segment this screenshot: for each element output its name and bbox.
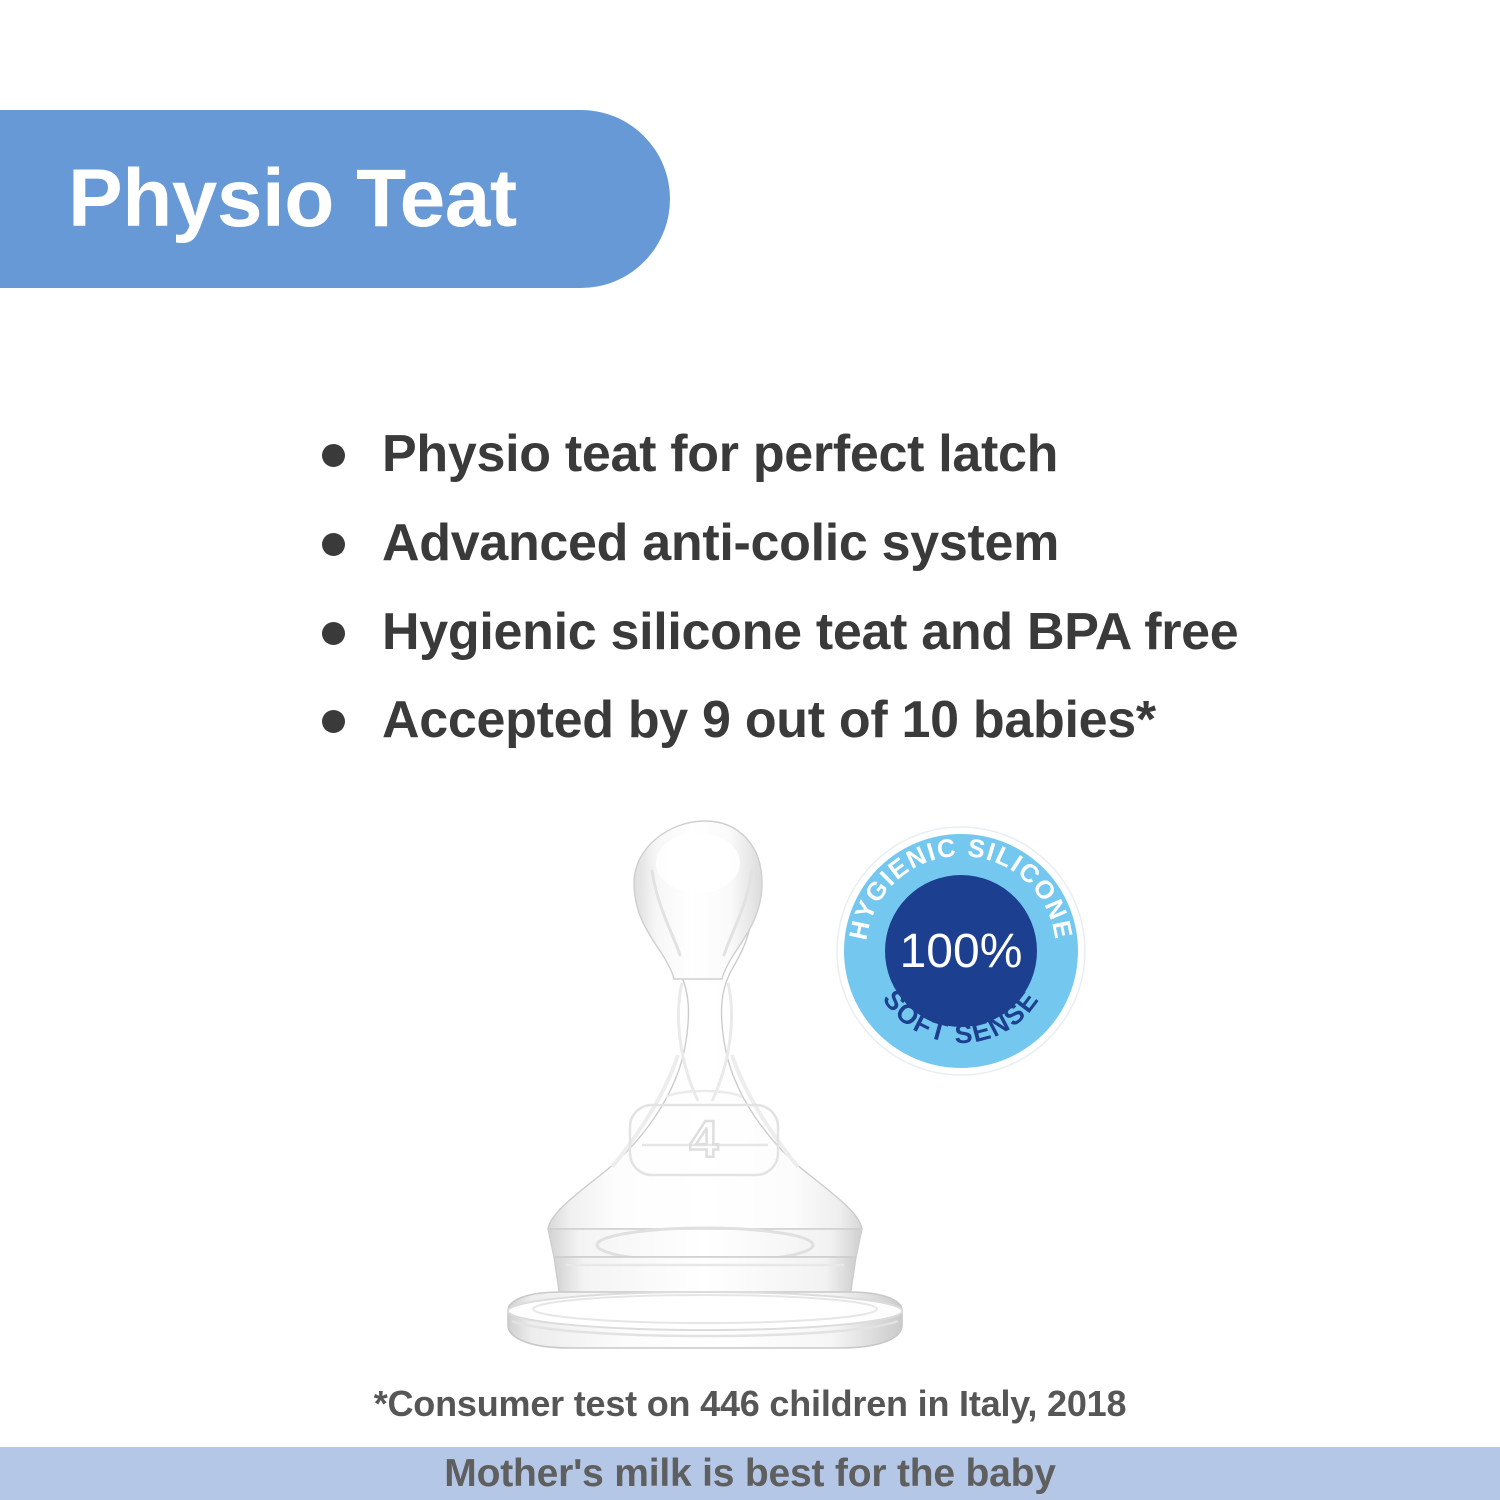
list-item: Physio teat for perfect latch [322,424,1422,485]
page-title: Physio Teat [68,158,517,240]
list-item: Advanced anti-colic system [322,513,1422,574]
footnote-text: *Consumer test on 446 children in Italy,… [0,1383,1500,1425]
disclaimer-bar: Mother's milk is best for the baby [0,1447,1500,1500]
feature-list: Physio teat for perfect latch Advanced a… [322,424,1422,779]
feature-label: Advanced anti-colic system [382,513,1059,574]
soft-sense-badge: HYGIENIC SILICONE SOFT SENSE 100% [836,826,1086,1076]
tip-highlight [656,833,740,893]
badge-center-text: 100% [900,925,1023,978]
header-banner: Physio Teat [0,110,670,288]
feature-label: Physio teat for perfect latch [382,424,1058,485]
feature-label: Accepted by 9 out of 10 babies* [382,690,1156,751]
bullet-dot-icon [322,710,345,733]
bullet-dot-icon [322,533,345,556]
bullet-dot-icon [322,622,345,645]
list-item: Accepted by 9 out of 10 babies* [322,690,1422,751]
bullet-dot-icon [322,444,345,467]
teat-step-ring [548,1229,862,1257]
flow-rate-number: 4 [690,1111,719,1169]
list-item: Hygienic silicone teat and BPA free [322,602,1422,663]
feature-label: Hygienic silicone teat and BPA free [382,602,1238,663]
disclaimer-text: Mother's milk is best for the baby [444,1454,1055,1493]
